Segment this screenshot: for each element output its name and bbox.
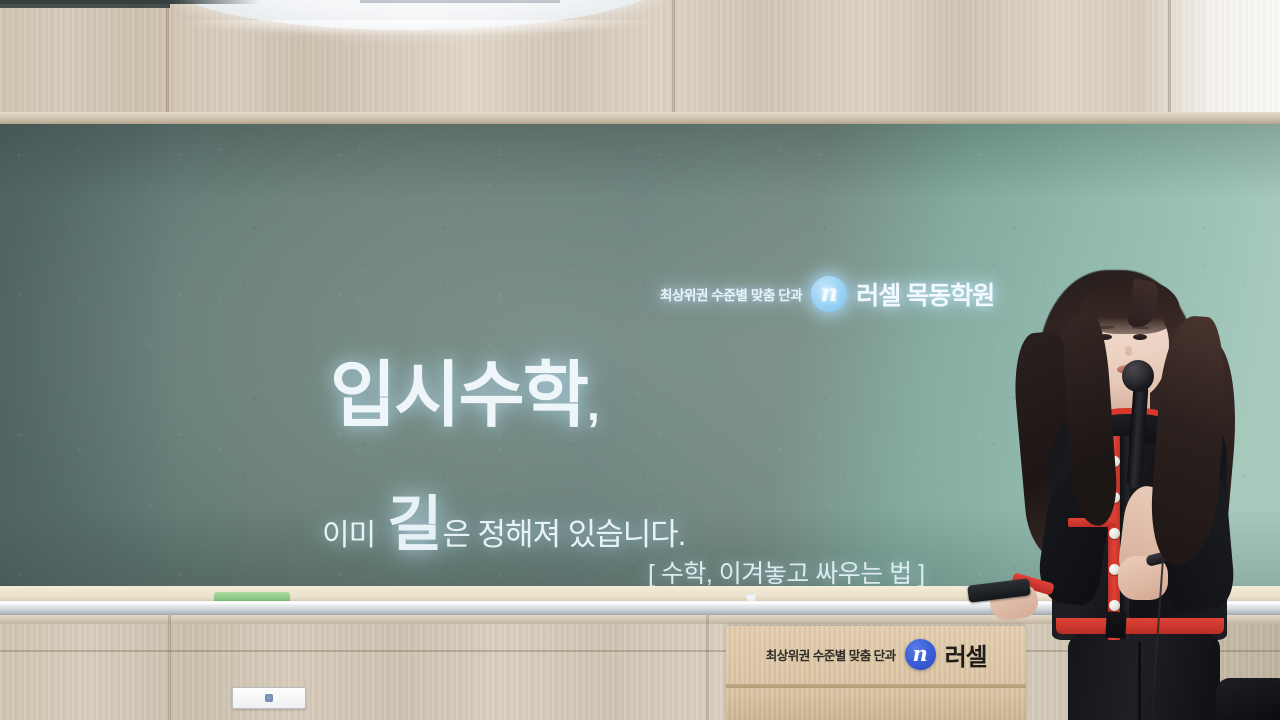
slide-subtitle: [ 수학, 이겨놓고 싸우는 법 ]	[648, 554, 925, 590]
slide-headline-text: 입시수학	[330, 356, 587, 436]
cardigan-button	[1109, 600, 1120, 611]
trousers	[1068, 634, 1220, 720]
wall-shadow-edge	[0, 0, 1280, 4]
russell-logo-glyph: n	[913, 643, 928, 664]
slide-subheadline-pre: 이미	[322, 510, 375, 554]
russell-logo-glyph: n	[821, 281, 838, 305]
wood-grain-texture	[0, 0, 1280, 124]
cabinet-seam	[168, 615, 171, 720]
presenter	[960, 260, 1280, 720]
cardigan-hem-trim	[1056, 618, 1224, 634]
cabinet-seam	[1168, 0, 1171, 124]
russell-logo-icon: n	[905, 639, 936, 670]
slide-subheadline: 이미 길 은 정해져 있습니다.	[322, 476, 685, 563]
podium-tagline: 최상위권 수준별 맞춤 단과	[766, 645, 896, 664]
slide-subheadline-post: 은 정해져 있습니다.	[442, 509, 685, 554]
slide-brand-tagline: 최상위권 수준별 맞춤 단과	[660, 284, 802, 304]
slide-brand-lockup: 최상위권 수준별 맞춤 단과 n 러셀 목동학원	[660, 276, 994, 312]
slide-subheadline-emphasis: 길	[387, 476, 440, 563]
slide-headline-comma: ,	[587, 378, 598, 430]
slide-headline: 입시수학,	[330, 360, 598, 432]
ceiling-light-glow	[168, 20, 668, 36]
russell-logo-icon: n	[811, 276, 847, 312]
foreground-object	[1216, 678, 1280, 720]
upper-wall-cabinets	[0, 0, 1280, 124]
cabinet-seam	[706, 615, 709, 720]
cabinet-seam	[166, 0, 169, 124]
lecture-room-screenshot: 최상위권 수준별 맞춤 단과 n 러셀 목동학원 입시수학, 이미 길 은 정해…	[0, 0, 1280, 720]
microphone-head	[1122, 360, 1154, 392]
plate-emblem-icon	[265, 694, 273, 702]
podium-name-plate	[232, 687, 306, 709]
cardigan-button	[1109, 528, 1120, 539]
nose	[1125, 346, 1132, 356]
eye-right	[1133, 334, 1147, 340]
cardigan-hem-notch	[1105, 611, 1126, 638]
cabinet-seam	[672, 0, 675, 124]
trouser-seam	[1138, 642, 1141, 720]
